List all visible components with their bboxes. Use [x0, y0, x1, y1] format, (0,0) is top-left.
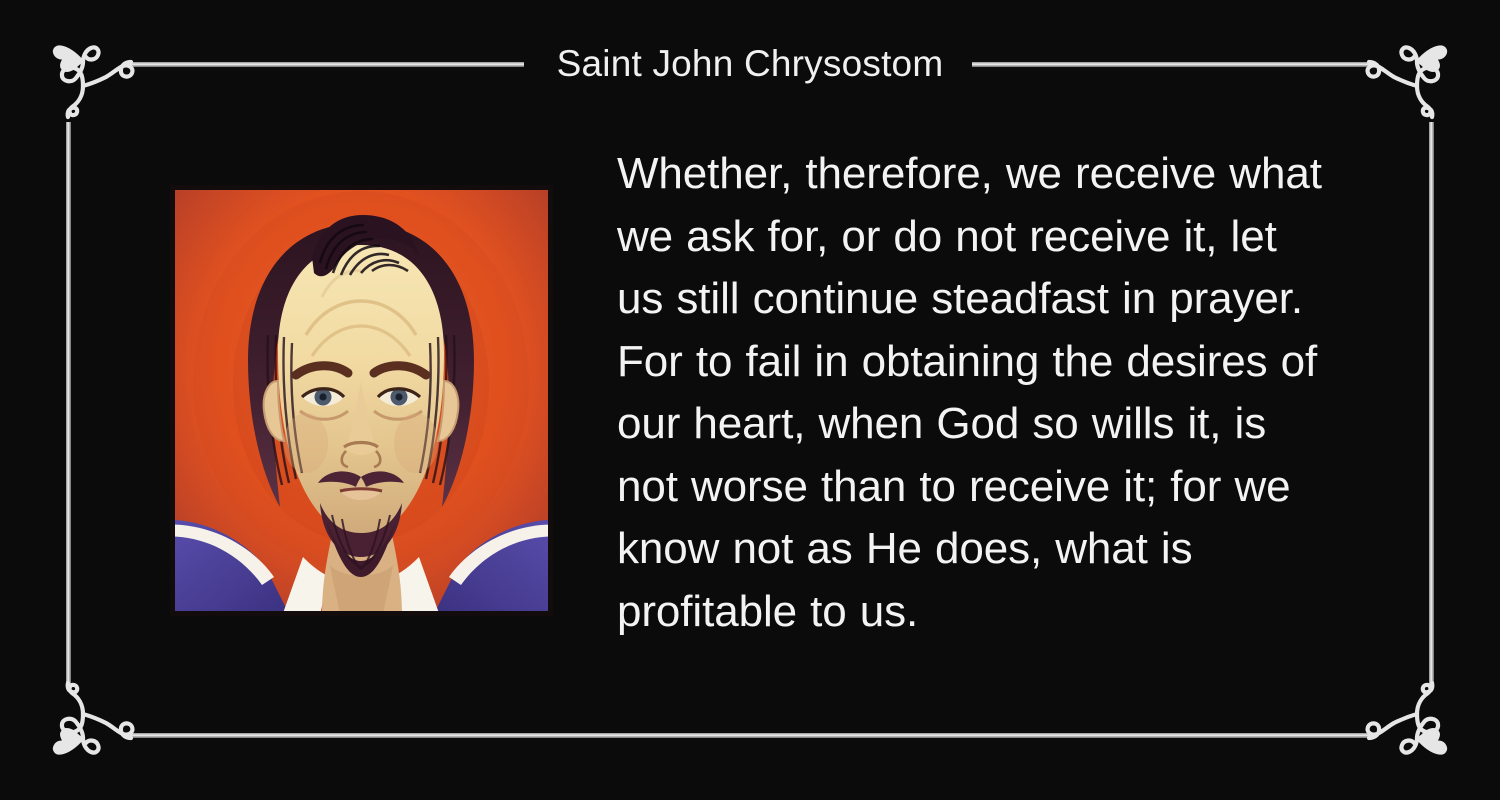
frame-line-left: [66, 122, 71, 688]
page-title: Saint John Chrysostom: [0, 40, 1500, 88]
frame-line-bottom: [126, 733, 1372, 738]
frame-line-right: [1429, 122, 1434, 688]
flourish-corner-ornament-icon: [1352, 656, 1472, 776]
byzantine-icon-illustration: [170, 185, 553, 616]
saint-portrait-image: [170, 185, 553, 616]
quote-card: Saint John Chrysostom: [0, 0, 1500, 800]
quote-text: Whether, therefore, we receive what we a…: [617, 143, 1323, 643]
flourish-corner-ornament-icon: [28, 656, 148, 776]
